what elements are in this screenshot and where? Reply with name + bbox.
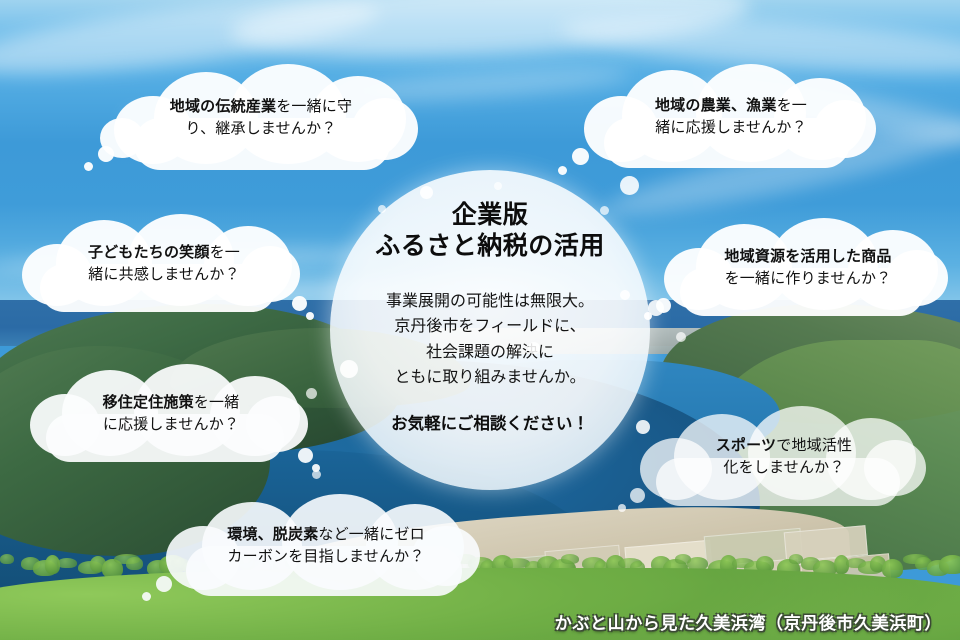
cloud-rest: で地域活性 bbox=[776, 437, 852, 454]
cloud-line-2: 化をしませんか？ bbox=[723, 457, 844, 480]
main-title-line2: ふるさと納税の活用 bbox=[375, 231, 605, 262]
cloud-bold: 地域の伝統産業 bbox=[170, 98, 276, 115]
cloud-line-2: り、継承しませんか？ bbox=[186, 118, 337, 141]
cloud-children-smiles[interactable]: 子どもたちの笑顔を一 緒に共感しませんか？ bbox=[18, 212, 310, 316]
main-body-line2: 京丹後市をフィールドに、 bbox=[386, 314, 594, 339]
decorative-bubble bbox=[528, 342, 540, 354]
cloud-tail bbox=[558, 166, 567, 175]
cloud-line-1: 地域資源を活用した商品 bbox=[724, 246, 891, 269]
cloud-tail bbox=[84, 162, 93, 171]
decorative-bubble bbox=[676, 332, 686, 342]
cloud-text: スポーツで地域活性 化をしませんか？ bbox=[636, 404, 932, 510]
main-body-line1: 事業展開の可能性は無限大。 bbox=[386, 289, 594, 314]
cloud-bold: 地域の農業、漁業 bbox=[655, 97, 777, 114]
cloud-bold: スポーツ bbox=[716, 437, 777, 454]
decorative-bubble bbox=[340, 360, 358, 378]
cloud-line-1: 移住定住施策を一緒 bbox=[103, 392, 240, 415]
cloud-line-2: 緒に共感しませんか？ bbox=[88, 264, 240, 287]
cloud-traditional-industry[interactable]: 地域の伝統産業を一緒に守 り、継承しませんか？ bbox=[96, 62, 426, 174]
main-body-line4: ともに取り組みませんか。 bbox=[386, 365, 594, 390]
cloud-text: 地域資源を活用した商品 を一緒に作りませんか？ bbox=[660, 216, 956, 320]
cloud-rest: を一緒 bbox=[194, 394, 240, 411]
cloud-text: 移住定住施策を一緒 に応援しませんか？ bbox=[26, 362, 316, 466]
cloud-bold: 子どもたちの笑顔 bbox=[88, 244, 210, 261]
poster-canvas: 企業版 ふるさと納税の活用 事業展開の可能性は無限大。 京丹後市をフィールドに、… bbox=[0, 0, 960, 640]
cloud-migration-settlement[interactable]: 移住定住施策を一緒 に応援しませんか？ bbox=[26, 362, 316, 466]
cloud-tail bbox=[618, 504, 626, 512]
cloud-line-2: 緒に応援しませんか？ bbox=[655, 117, 807, 140]
cloud-bold: 地域資源を活用した商品 bbox=[724, 248, 891, 265]
cloud-line-1: スポーツで地域活性 bbox=[716, 435, 853, 458]
cloud-local-resources-product[interactable]: 地域資源を活用した商品 を一緒に作りませんか？ bbox=[660, 216, 956, 320]
cloud-line-1: 子どもたちの笑顔を一 bbox=[88, 242, 240, 265]
photo-caption: かぶと山から見た久美浜湾（京丹後市久美浜町） bbox=[555, 609, 942, 634]
cloud-tail bbox=[644, 312, 652, 320]
cloud-tail bbox=[142, 592, 151, 601]
cloud-line-1: 地域の農業、漁業を一 bbox=[655, 95, 807, 118]
cloud-bold: 環境、脱炭素 bbox=[227, 526, 318, 543]
decorative-bubble bbox=[620, 290, 630, 300]
cloud-bold: 移住定住施策 bbox=[103, 394, 194, 411]
main-body-line3: 社会課題の解決に bbox=[386, 340, 594, 365]
decorative-bubble bbox=[420, 186, 433, 199]
cloud-text: 子どもたちの笑顔を一 緒に共感しませんか？ bbox=[18, 212, 310, 316]
cloud-line-2: カーボンを目指しませんか？ bbox=[227, 546, 424, 569]
cloud-line-1: 地域の伝統産業を一緒に守 bbox=[170, 96, 352, 119]
main-title: 企業版 ふるさと納税の活用 bbox=[375, 200, 605, 261]
cloud-line-1: 環境、脱炭素など一緒にゼロ bbox=[227, 524, 425, 547]
cloud-text: 地域の伝統産業を一緒に守 り、継承しませんか？ bbox=[96, 62, 426, 174]
main-body: 事業展開の可能性は無限大。 京丹後市をフィールドに、 社会課題の解決に ともに取… bbox=[386, 289, 594, 390]
cloud-agriculture-fishery[interactable]: 地域の農業、漁業を一 緒に応援しませんか？ bbox=[578, 62, 884, 172]
cloud-rest: を一緒に守 bbox=[276, 98, 352, 115]
cloud-rest: を一 bbox=[777, 97, 807, 114]
cloud-zero-carbon[interactable]: 環境、脱炭素など一緒にゼロ カーボンを目指しませんか？ bbox=[160, 492, 492, 600]
main-title-line1: 企業版 bbox=[375, 200, 605, 231]
cloud-text: 地域の農業、漁業を一 緒に応援しませんか？ bbox=[578, 62, 884, 172]
decorative-bubble bbox=[600, 206, 609, 215]
contact-cta: お気軽にご相談ください！ bbox=[391, 410, 589, 434]
cloud-text: 環境、脱炭素など一緒にゼロ カーボンを目指しませんか？ bbox=[160, 492, 492, 600]
central-circle-content: 企業版 ふるさと納税の活用 事業展開の可能性は無限大。 京丹後市をフィールドに、… bbox=[330, 170, 650, 490]
cloud-rest: など一緒にゼロ bbox=[318, 526, 424, 543]
cloud-line-2: を一緒に作りませんか？ bbox=[725, 268, 892, 291]
cloud-line-2: に応援しませんか？ bbox=[103, 414, 239, 437]
decorative-bubble bbox=[378, 205, 386, 213]
decorative-bubble bbox=[620, 176, 639, 195]
decorative-bubble bbox=[494, 182, 502, 190]
cloud-rest: を一 bbox=[210, 244, 240, 261]
cloud-sports-revitalization[interactable]: スポーツで地域活性 化をしませんか？ bbox=[636, 404, 932, 510]
